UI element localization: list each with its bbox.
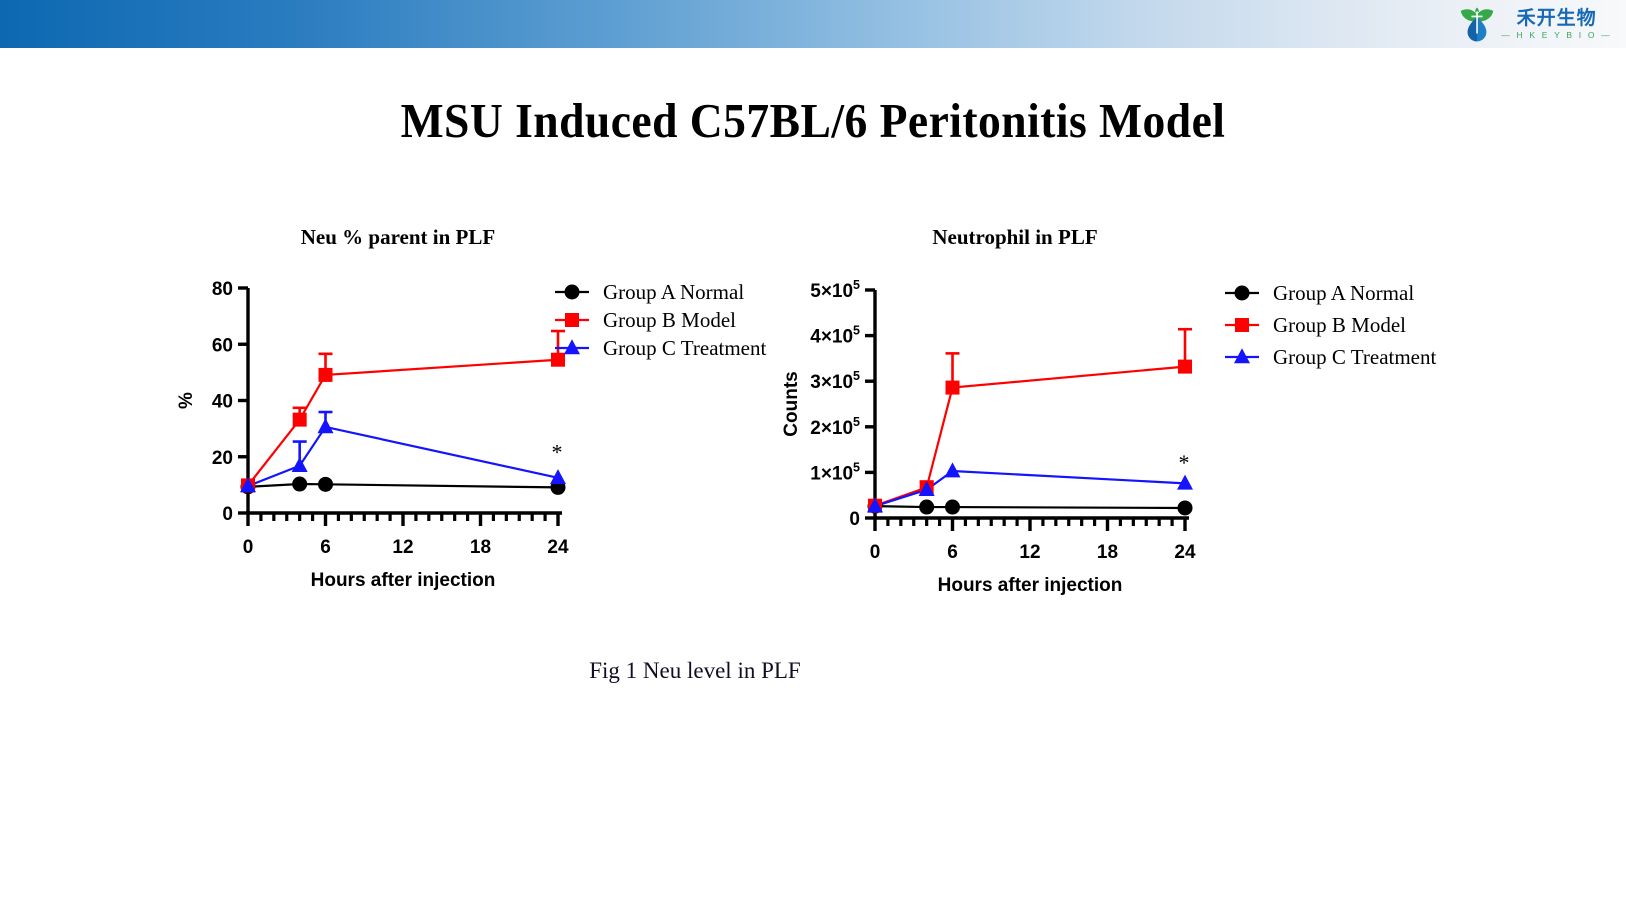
chart-title: Neu % parent in PLF [188, 225, 608, 250]
logo-wordmark: 禾开生物 — H K E Y B I O — [1501, 9, 1612, 40]
data-point-square [1178, 360, 1192, 374]
x-tick-label: 24 [1174, 542, 1196, 563]
data-point-circle [1235, 286, 1250, 301]
slide-title: MSU Induced C57BL/6 Peritonitis Model [57, 92, 1569, 149]
y-tick-label: 80 [212, 279, 233, 300]
y-tick-label: 3×105 [810, 369, 860, 393]
data-point-triangle [564, 339, 580, 354]
data-point-circle [1178, 500, 1193, 515]
logo-chinese-name: 禾开生物 [1517, 9, 1597, 28]
y-tick-label: 5×105 [810, 278, 860, 302]
chart-svg-neutrophil-counts: 01×1052×1053×1054×1055×10506121824Hours … [775, 250, 1475, 630]
data-point-square [565, 313, 579, 327]
data-point-square [293, 413, 307, 427]
x-axis-title: Hours after injection [938, 575, 1123, 596]
legend-label: Group C Treatment [1273, 345, 1437, 369]
data-point-circle [318, 477, 333, 492]
logo-english-name: — H K E Y B I O — [1501, 31, 1612, 40]
data-point-circle [292, 477, 307, 492]
data-point-circle [919, 500, 934, 515]
leaf-droplet-logo-icon [1459, 5, 1495, 43]
legend-label: Group C Treatment [603, 336, 767, 360]
figure-caption: Fig 1 Neu level in PLF [0, 658, 1390, 684]
data-point-square [319, 368, 333, 382]
y-tick-label: 40 [212, 392, 233, 413]
y-tick-label: 1×105 [810, 460, 860, 484]
x-tick-label: 0 [243, 537, 254, 558]
y-tick-label: 20 [212, 448, 233, 469]
chart-panel-neutrophil-counts: Neutrophil in PLF 01×1052×1053×1054×1055… [775, 225, 1475, 630]
y-axis-title: Counts [781, 371, 802, 436]
y-tick-label: 0 [849, 509, 860, 530]
x-axis-title: Hours after injection [311, 570, 496, 591]
x-tick-label: 12 [392, 537, 413, 558]
data-point-circle [565, 285, 580, 300]
legend-label: Group B Model [1273, 313, 1406, 337]
data-point-square [1235, 318, 1249, 332]
chart-svg-neu-percent: 02040608006121824Hours after injection%*… [170, 250, 790, 620]
x-tick-label: 18 [1097, 542, 1118, 563]
data-point-circle [945, 500, 960, 515]
data-point-square [946, 381, 960, 395]
data-point-triangle [945, 462, 961, 477]
legend-label: Group A Normal [603, 280, 744, 304]
significance-star: * [552, 440, 563, 465]
y-tick-label: 4×105 [810, 324, 860, 348]
x-tick-label: 6 [320, 537, 331, 558]
y-axis-title: % [176, 392, 197, 409]
significance-star: * [1179, 450, 1190, 475]
x-tick-label: 0 [870, 542, 881, 563]
y-tick-label: 2×105 [810, 415, 860, 439]
legend-label: Group A Normal [1273, 281, 1414, 305]
data-point-triangle [318, 418, 334, 433]
y-tick-label: 60 [212, 335, 233, 356]
chart-panel-neu-percent: Neu % parent in PLF 02040608006121824Hou… [170, 225, 790, 620]
x-tick-label: 6 [947, 542, 958, 563]
x-tick-label: 12 [1019, 542, 1040, 563]
data-point-triangle [1234, 348, 1250, 363]
brand-logo: 禾开生物 — H K E Y B I O — [1459, 4, 1612, 44]
x-tick-label: 24 [547, 537, 569, 558]
x-tick-label: 18 [470, 537, 491, 558]
series-line [248, 427, 558, 486]
data-point-square [551, 353, 565, 367]
y-tick-label: 0 [222, 504, 233, 525]
header-bar: 禾开生物 — H K E Y B I O — [0, 0, 1626, 48]
legend-label: Group B Model [603, 308, 736, 332]
chart-title: Neutrophil in PLF [805, 225, 1225, 250]
